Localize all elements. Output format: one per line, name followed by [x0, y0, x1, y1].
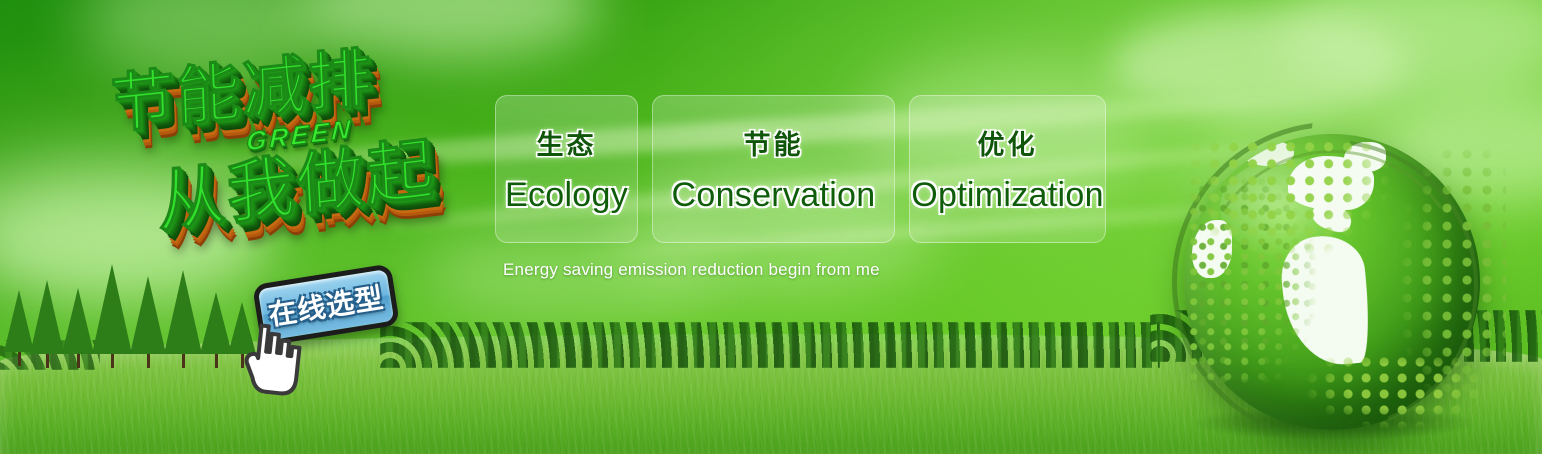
headline-3d-graphic: 节能减排 GREEN 从我做起: [96, 34, 496, 274]
feature-card-cn-label: 生态: [537, 123, 597, 162]
globe-highlight: [1220, 158, 1356, 259]
feature-card-cn-label: 优化: [978, 123, 1038, 162]
feature-card-cn-label: 节能: [744, 123, 804, 162]
globe-sphere: [1184, 134, 1480, 430]
tagline-text: Energy saving emission reduction begin f…: [503, 260, 880, 280]
eco-hero-banner: 节能减排 GREEN 从我做起 在线选型 生态 Ecology 节能 Conse…: [0, 0, 1542, 454]
online-selection-label: 在线选型: [252, 263, 400, 346]
feature-card-optimization[interactable]: 优化 Optimization: [909, 95, 1106, 243]
feature-card-ecology[interactable]: 生态 Ecology: [495, 95, 638, 243]
feature-card-list: 生态 Ecology 节能 Conservation 优化 Optimizati…: [495, 95, 1106, 243]
online-selection-button[interactable]: 在线选型: [252, 263, 400, 346]
leafy-globe-icon: [1166, 106, 1502, 436]
feature-card-en-label: Optimization: [911, 176, 1104, 215]
feature-card-en-label: Ecology: [505, 176, 628, 215]
feature-card-en-label: Conservation: [672, 176, 876, 215]
cloud-decoration: [1110, 10, 1410, 120]
continent-greenland: [1344, 142, 1386, 172]
feature-card-conservation[interactable]: 节能 Conservation: [652, 95, 895, 243]
cloud-decoration: [1280, 0, 1542, 100]
